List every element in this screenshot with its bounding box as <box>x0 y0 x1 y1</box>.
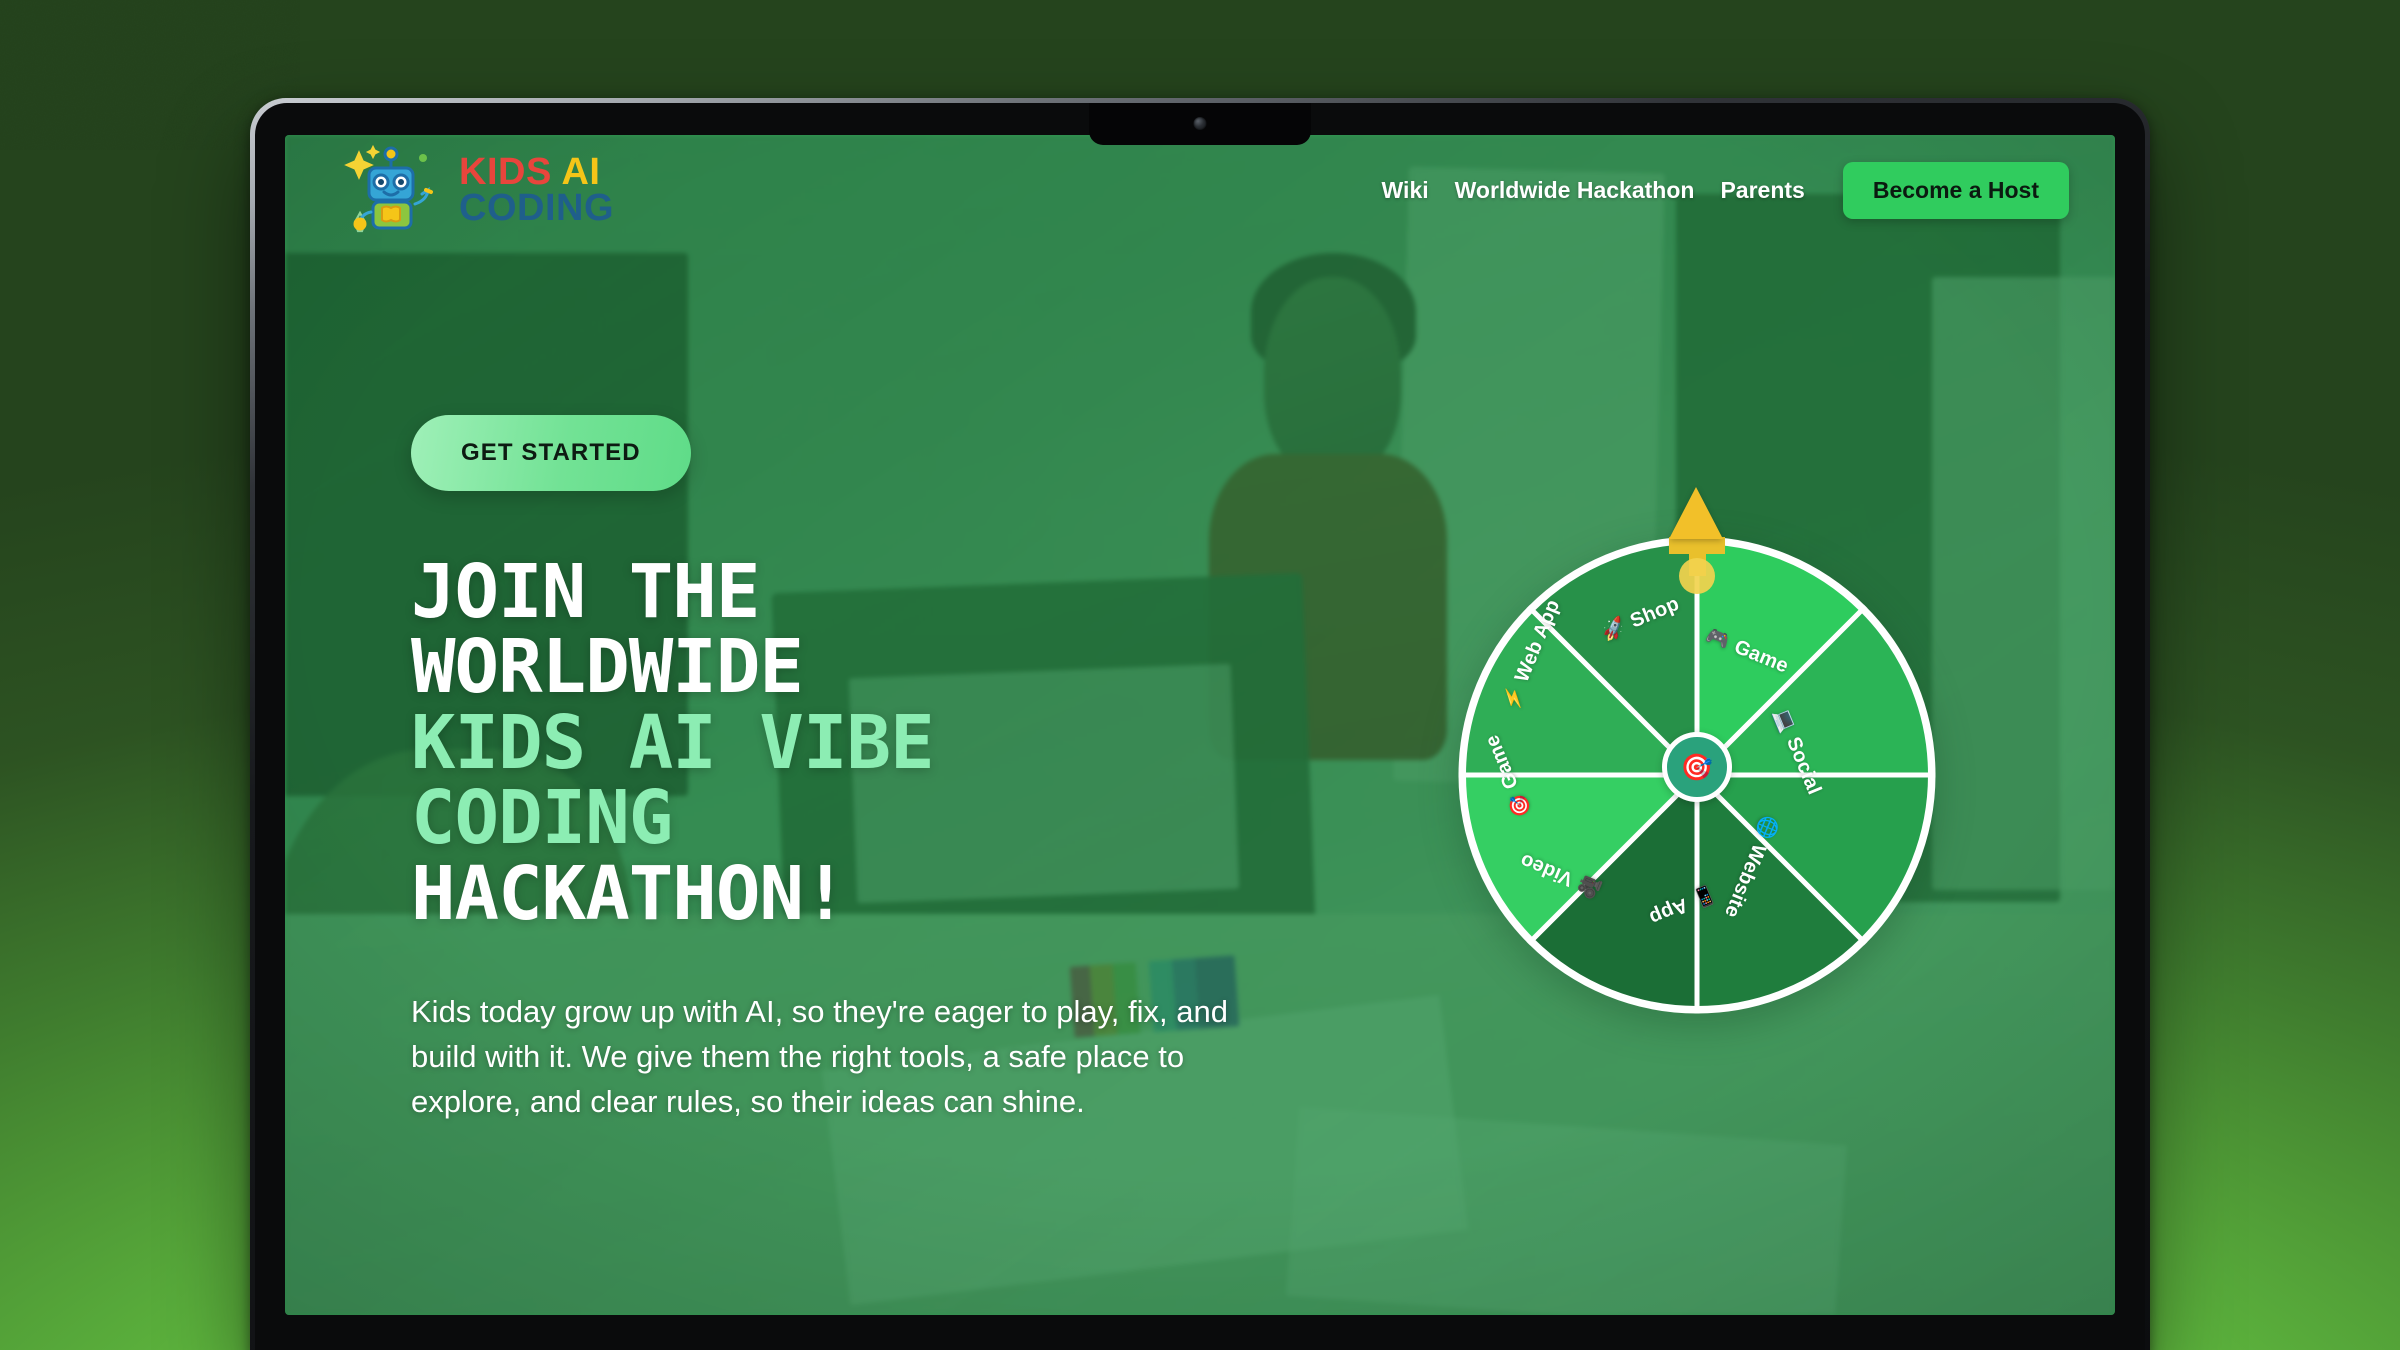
website-content: KIDS AI CODING Wiki Worldwide Hackathon … <box>285 135 2115 1315</box>
wheel-hub[interactable]: 🎯 <box>1662 732 1732 802</box>
headline-line-1: JOIN THE <box>411 549 759 635</box>
hero-paragraph: Kids today grow up with AI, so they're e… <box>411 990 1231 1124</box>
headline-line-4: CODING <box>411 775 672 861</box>
robot-icon <box>337 136 445 244</box>
get-started-button[interactable]: GET STARTED <box>411 415 691 491</box>
headline-line-2: WORLDWIDE <box>411 624 803 710</box>
main-navigation: Wiki Worldwide Hackathon Parents Become … <box>1382 162 2069 219</box>
headline-line-3: KIDS AI VIBE <box>411 700 934 786</box>
brand-coding-text: CODING <box>459 190 614 226</box>
brand-wordmark: KIDS AI CODING <box>459 154 614 227</box>
laptop-lid: KIDS AI CODING Wiki Worldwide Hackathon … <box>250 98 2150 1350</box>
laptop-device: KIDS AI CODING Wiki Worldwide Hackathon … <box>250 98 2150 1350</box>
site-header: KIDS AI CODING Wiki Worldwide Hackathon … <box>285 135 2115 245</box>
brand-logo[interactable]: KIDS AI CODING <box>337 136 614 244</box>
page-title: JOIN THE WORLDWIDE KIDS AI VIBE CODING H… <box>411 555 1311 932</box>
wheel-pointer-icon <box>1669 487 1725 594</box>
headline-line-5: HACKATHON! <box>411 851 847 937</box>
laptop-notch <box>1089 103 1311 145</box>
laptop-bezel: KIDS AI CODING Wiki Worldwide Hackathon … <box>255 103 2145 1350</box>
nav-link-wiki[interactable]: Wiki <box>1382 177 1429 204</box>
become-a-host-button[interactable]: Become a Host <box>1843 162 2069 219</box>
nav-link-worldwide-hackathon[interactable]: Worldwide Hackathon <box>1455 177 1695 204</box>
hero-section: GET STARTED JOIN THE WORLDWIDE KIDS AI V… <box>411 415 1311 1124</box>
hub-target-icon: 🎯 <box>1681 752 1713 783</box>
camera-icon <box>1194 117 1207 130</box>
spin-wheel[interactable]: 🎮Game💻Social🌐Website📱App🎥Video🎯Game⚡Web … <box>1427 487 1967 1047</box>
nav-link-parents[interactable]: Parents <box>1720 177 1804 204</box>
laptop-screen: KIDS AI CODING Wiki Worldwide Hackathon … <box>285 135 2115 1315</box>
